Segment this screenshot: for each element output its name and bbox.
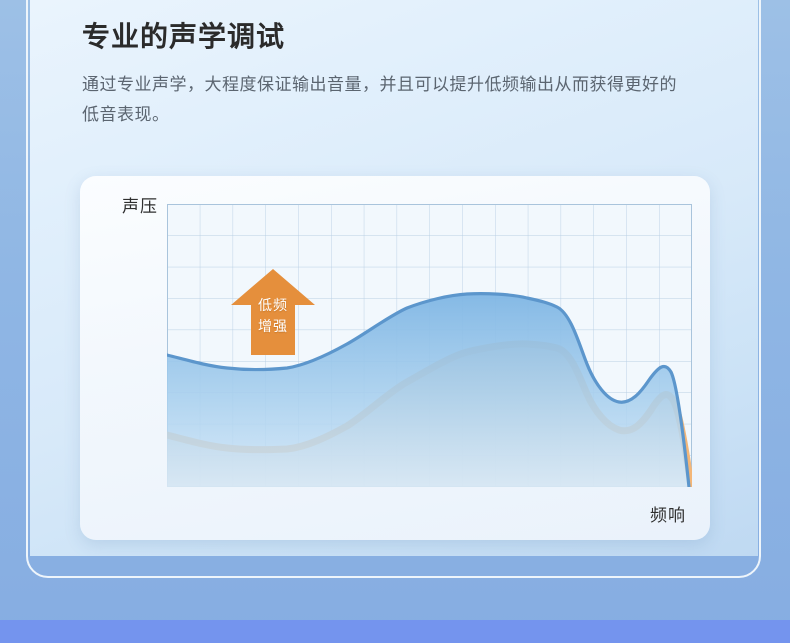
bottom-color-band <box>0 620 790 643</box>
outer-frame <box>26 0 761 578</box>
product-feature-page: 专业的声学调试 通过专业声学，大程度保证输出音量，并且可以提升低频输出从而获得更… <box>0 0 790 643</box>
